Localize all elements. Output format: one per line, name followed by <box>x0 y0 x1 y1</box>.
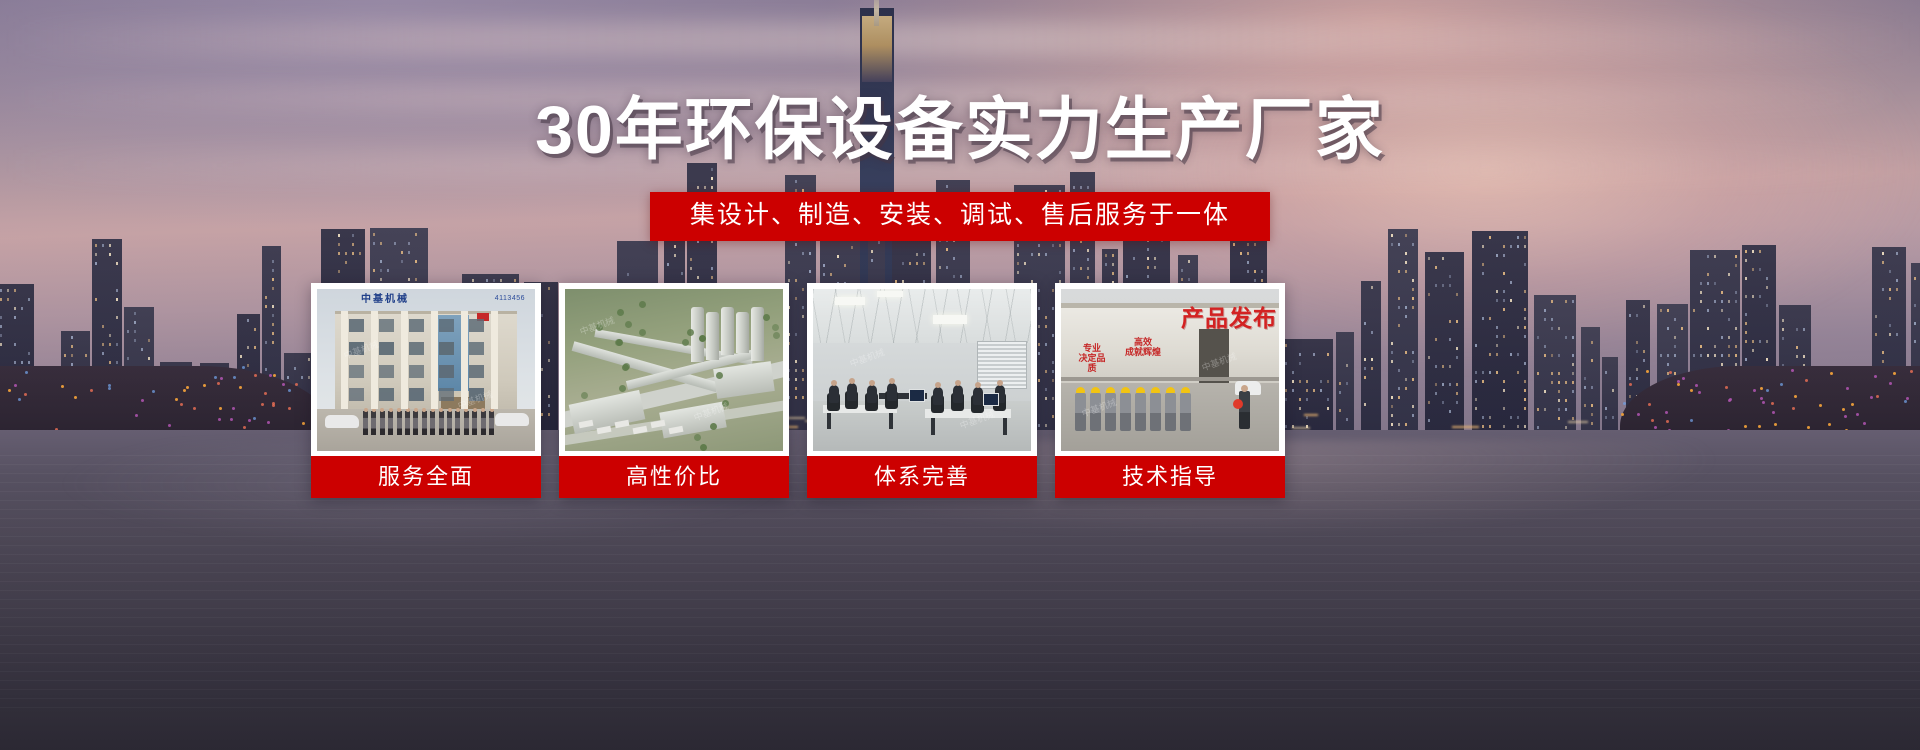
office-desk-leg <box>889 413 893 429</box>
feature-card[interactable]: 中基机械 中基机械 体系完善 <box>807 283 1037 498</box>
safety-helmet <box>1091 387 1100 393</box>
building-window <box>469 388 484 401</box>
building-column <box>371 311 378 409</box>
office-worker-head <box>869 380 875 386</box>
building-window <box>349 365 364 378</box>
card-photo-office-interior: 中基机械 中基机械 <box>813 289 1031 451</box>
safety-helmet <box>1166 387 1175 393</box>
office-desk-leg <box>827 413 831 429</box>
feature-card-list: 中基机械 4113456 中基机械 中基机械 服务全面 <box>311 283 1285 498</box>
office-monitor <box>983 393 999 406</box>
card-photo-industrial-plant: 中基机械 中基机械 <box>565 289 783 451</box>
staff-member <box>439 411 444 435</box>
staff-head <box>473 408 477 412</box>
factory-worker <box>1135 393 1146 431</box>
card-label-bar: 体系完善 <box>807 456 1037 498</box>
building-window <box>469 365 484 378</box>
office-desk-leg <box>931 418 935 435</box>
office-worker <box>933 387 943 405</box>
office-worker-head <box>935 382 941 388</box>
staff-head <box>448 408 452 412</box>
staff-member <box>472 411 477 435</box>
office-desk-leg <box>1003 418 1007 435</box>
staff-member <box>380 411 385 435</box>
safety-helmet <box>1106 387 1115 393</box>
storage-silo <box>736 312 749 353</box>
building-window <box>379 365 394 378</box>
building-window <box>439 342 454 355</box>
factory-slogan-left: 专业决定品质 <box>1075 343 1109 373</box>
card-label-bar: 服务全面 <box>311 456 541 498</box>
building-column <box>341 311 348 409</box>
staff-member <box>405 411 410 435</box>
building-window <box>349 342 364 355</box>
staff-member <box>413 411 418 435</box>
plant-tree <box>615 339 622 346</box>
staff-member <box>371 411 376 435</box>
staff-member <box>455 411 460 435</box>
storage-silo <box>706 312 719 360</box>
safety-helmet <box>1151 387 1160 393</box>
card-photo-factory-workers: 产品发布 专业决定品质 高效成就辉煌 中基机械 中基机械 <box>1061 289 1279 451</box>
office-worker <box>829 385 839 403</box>
building-window <box>409 365 424 378</box>
factory-banner-text: 产品发布 <box>1181 307 1277 330</box>
office-worker-head <box>889 378 895 384</box>
building-column <box>491 311 498 409</box>
factory-worker <box>1075 393 1086 431</box>
safety-helmet <box>1136 387 1145 393</box>
building-window <box>409 342 424 355</box>
banner-content: 30年环保设备实力生产厂家 集设计、制造、安装、调试、售后服务于一体 中基机械 … <box>0 0 1920 750</box>
office-worker <box>887 383 897 401</box>
staff-member <box>481 411 486 435</box>
card-label-bar: 技术指导 <box>1055 456 1285 498</box>
staff-member <box>464 411 469 435</box>
plant-tree <box>619 385 626 392</box>
staff-member <box>363 411 368 435</box>
factory-supervisor <box>1239 391 1250 429</box>
staff-head <box>414 408 418 412</box>
card-label-text: 体系完善 <box>874 466 970 488</box>
office-worker <box>953 385 963 403</box>
office-worker-head <box>831 380 837 386</box>
supervisor-head <box>1241 385 1248 392</box>
safety-helmet <box>1076 387 1085 393</box>
building-sign-text: 中基机械 <box>361 294 409 305</box>
safety-helmet <box>1181 387 1190 393</box>
building-window <box>379 319 394 332</box>
building-window <box>349 319 364 332</box>
factory-worker <box>1180 393 1191 431</box>
building-window <box>469 342 484 355</box>
card-label-text: 高性价比 <box>626 466 722 488</box>
plant-tree <box>581 392 588 399</box>
office-worker-head <box>955 380 961 386</box>
banner-headline: 30年环保设备实力生产厂家 <box>0 96 1920 164</box>
staff-member <box>422 411 427 435</box>
card-label-bar: 高性价比 <box>559 456 789 498</box>
plant-tree <box>639 301 646 308</box>
staff-member <box>430 411 435 435</box>
plant-tree <box>625 321 632 328</box>
building-window <box>379 342 394 355</box>
feature-card[interactable]: 产品发布 专业决定品质 高效成就辉煌 中基机械 中基机械 技术指导 <box>1055 283 1285 498</box>
office-monitor <box>909 389 925 402</box>
hero-banner: 30年环保设备实力生产厂家 集设计、制造、安装、调试、售后服务于一体 中基机械 … <box>0 0 1920 750</box>
office-worker <box>867 385 877 403</box>
card-label-text: 服务全面 <box>378 466 474 488</box>
banner-subtitle-bar: 集设计、制造、安装、调试、售后服务于一体 <box>650 192 1270 241</box>
factory-worker <box>1150 393 1161 431</box>
building-window <box>469 319 484 332</box>
building-window <box>409 319 424 332</box>
staff-member <box>388 411 393 435</box>
plant-tree <box>682 339 689 346</box>
plant-tree <box>596 324 603 331</box>
feature-card[interactable]: 中基机械 中基机械 高性价比 <box>559 283 789 498</box>
office-worker-head <box>997 380 1003 386</box>
building-phone-text: 4113456 <box>495 295 525 302</box>
building-window <box>409 388 424 401</box>
building-column <box>401 311 408 409</box>
card-label-text: 技术指导 <box>1122 466 1218 488</box>
factory-worker <box>1120 393 1131 431</box>
feature-card[interactable]: 中基机械 4113456 中基机械 中基机械 服务全面 <box>311 283 541 498</box>
plant-tree <box>710 423 717 430</box>
staff-head <box>389 408 393 412</box>
factory-slogan-right: 高效成就辉煌 <box>1123 337 1163 357</box>
staff-member <box>447 411 452 435</box>
plant-tree <box>699 335 706 342</box>
staff-head <box>456 408 460 412</box>
plant-tree <box>700 444 707 451</box>
card-photo-company-building: 中基机械 4113456 中基机械 中基机械 <box>317 289 535 451</box>
staff-member <box>397 411 402 435</box>
office-worker <box>847 383 857 401</box>
plant-tree <box>722 400 729 407</box>
storage-silo <box>751 307 764 361</box>
building-window <box>349 388 364 401</box>
factory-worker <box>1105 393 1116 431</box>
banner-subtitle: 集设计、制造、安装、调试、售后服务于一体 <box>690 203 1230 228</box>
office-worker <box>973 387 983 405</box>
office-worker-head <box>975 382 981 388</box>
office-worker-head <box>849 378 855 384</box>
building-window <box>439 365 454 378</box>
building-window <box>379 388 394 401</box>
supervisor-helmet <box>1233 399 1243 409</box>
building-window <box>439 319 454 332</box>
storage-silo <box>721 307 734 355</box>
plant-tree <box>639 329 646 336</box>
staff-head <box>364 408 368 412</box>
factory-worker <box>1165 393 1176 431</box>
plant-tree <box>763 314 770 321</box>
building-window <box>439 388 454 401</box>
factory-worker <box>1090 393 1101 431</box>
building-column <box>431 311 438 409</box>
safety-helmet <box>1121 387 1130 393</box>
staff-member <box>489 411 494 435</box>
building-column <box>461 311 468 409</box>
